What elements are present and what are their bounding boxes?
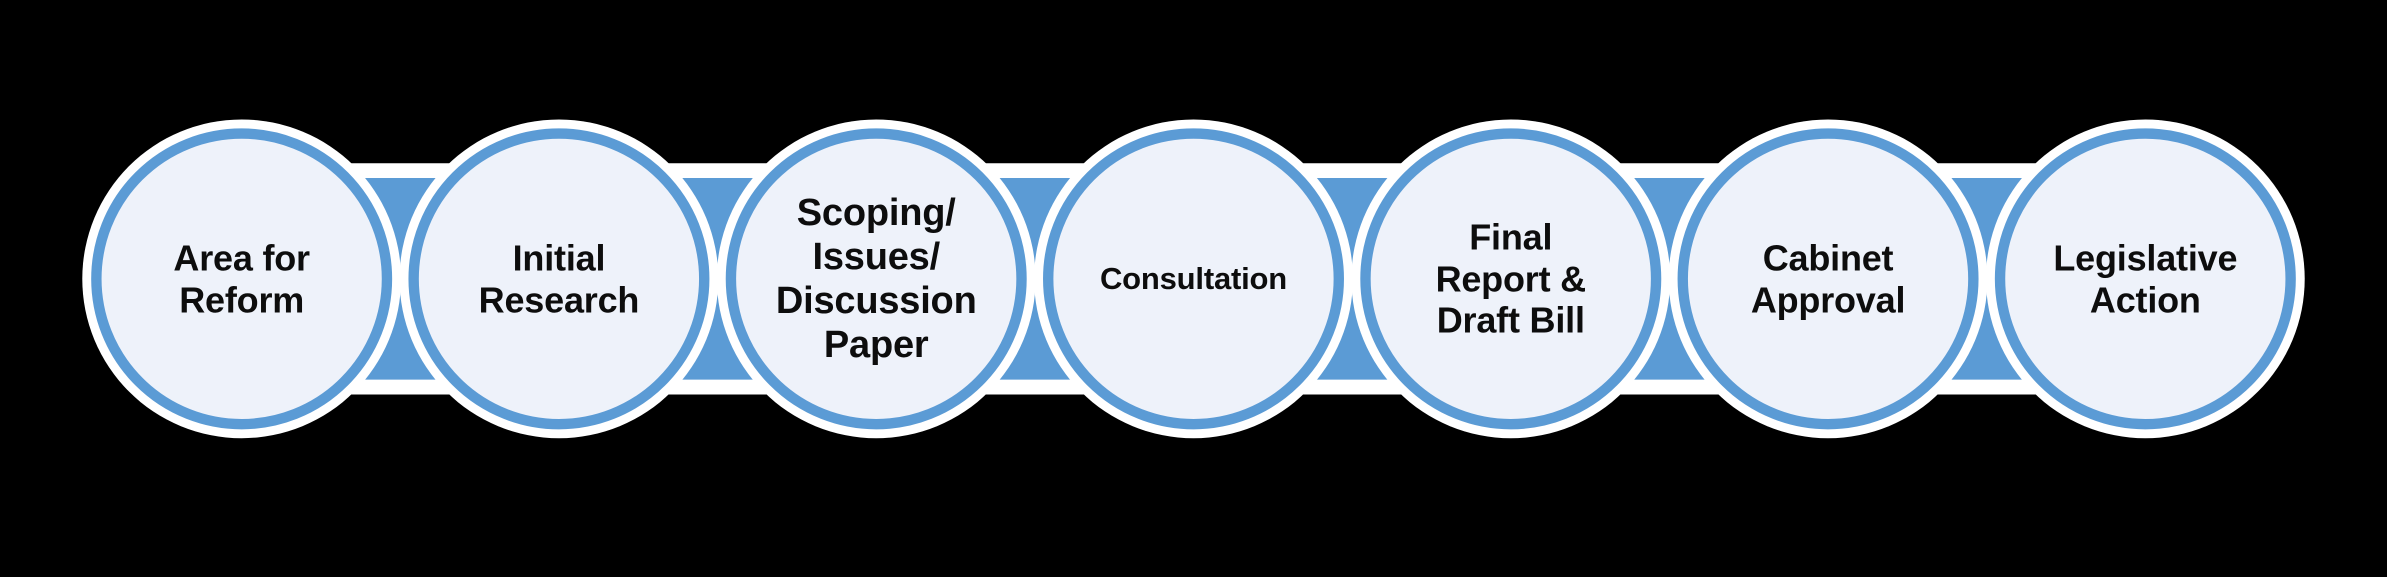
node-label-final-report-draft-bill: Final Report & Draft Bill	[1436, 216, 1586, 341]
node-label-initial-research: Initial Research	[479, 237, 640, 321]
process-flow-diagram: Area for ReformInitial ResearchScoping/ …	[0, 0, 2387, 577]
node-label-scoping-issues-discussion-paper: Scoping/ Issues/ Discussion Paper	[776, 191, 977, 367]
node-label-area-for-reform: Area for Reform	[173, 237, 309, 321]
node-label-consultation: Consultation	[1100, 261, 1287, 297]
node-label-cabinet-approval: Cabinet Approval	[1751, 237, 1905, 321]
node-label-legislative-action: Legislative Action	[2053, 237, 2237, 321]
